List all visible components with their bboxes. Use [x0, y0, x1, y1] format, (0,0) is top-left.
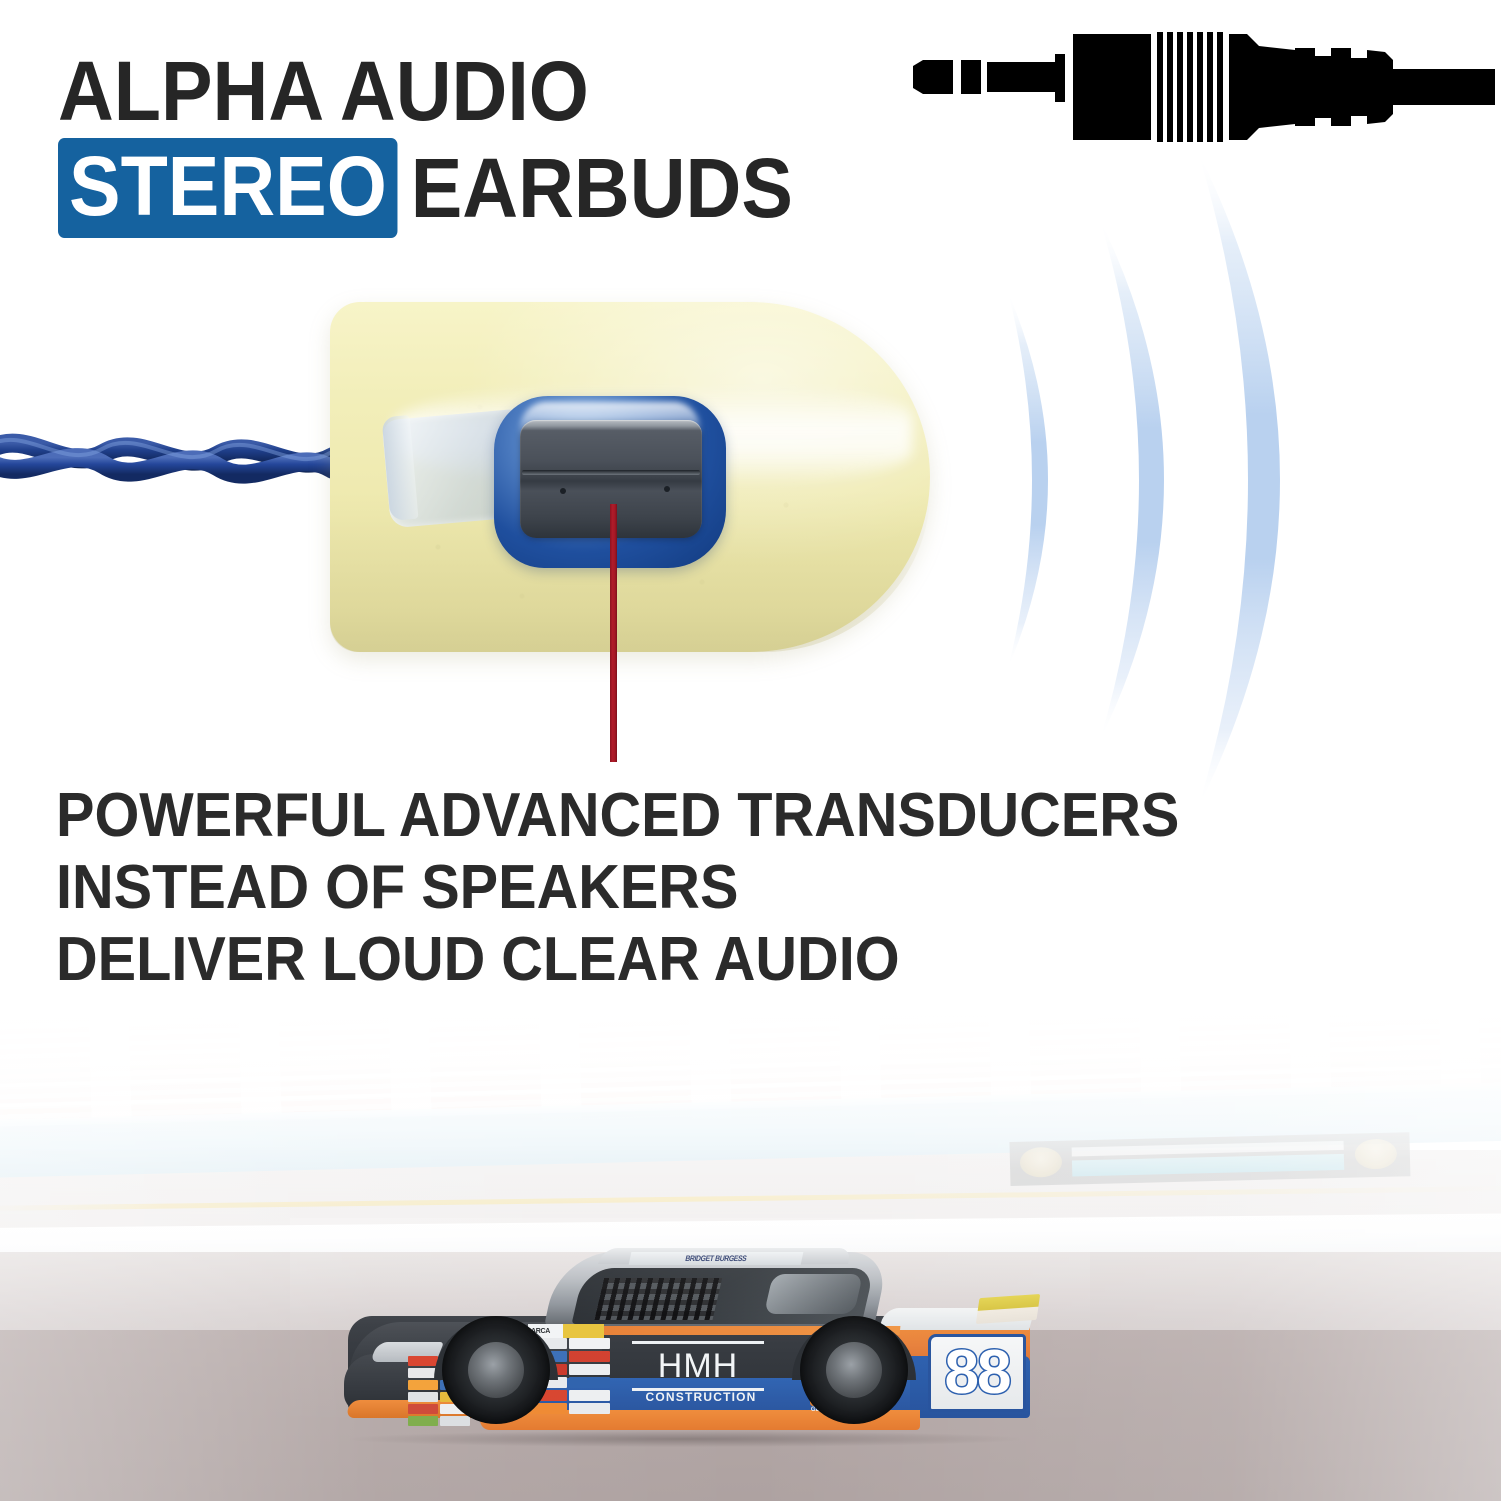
car-window [572, 1268, 875, 1324]
transducer-port [664, 486, 670, 492]
sound-wave-arc-small [1008, 292, 1048, 668]
sponsor-hmh-logo: HMH [620, 1338, 776, 1394]
transducer-seam [522, 470, 700, 475]
transducer-port [560, 488, 566, 494]
feature-line-2: INSTEAD OF SPEAKERS [56, 852, 1172, 924]
car-spoiler [976, 1294, 1040, 1324]
car-number: 88 [928, 1332, 1026, 1412]
wheel-front [442, 1316, 550, 1424]
audio-jack-icon [895, 12, 1495, 142]
headline-block: ALPHA AUDIO STEREO EARBUDS [58, 52, 958, 238]
feature-line-3: DELIVER LOUD CLEAR AUDIO [56, 924, 1172, 996]
headline-line-1: ALPHA AUDIO [58, 52, 886, 132]
race-car: BRIDGET BURGESS ARCA HMH [330, 1238, 1040, 1443]
window-glare [764, 1274, 863, 1314]
feature-line-1: POWERFUL ADVANCED TRANSDUCERS [56, 780, 1172, 852]
hmh-text: HMH [658, 1349, 738, 1383]
earbuds-word: EARBUDS [411, 146, 793, 230]
driver-name-banner: BRIDGET BURGESS [629, 1252, 804, 1265]
sound-wave-arc-large [1198, 152, 1280, 808]
car-shadow [350, 1431, 1020, 1447]
sign-text-row [1072, 1154, 1344, 1177]
stereo-badge: STEREO [58, 138, 398, 238]
sound-wave-group [960, 120, 1501, 840]
headline-line-2: STEREO EARBUDS [58, 138, 886, 238]
window-safety-net [594, 1278, 722, 1320]
sound-wave-arc-medium [1100, 220, 1164, 740]
sponsor-logo-icon [1355, 1139, 1398, 1170]
product-infographic: BRIDGET BURGESS ARCA HMH [0, 0, 1501, 1501]
wheel-rear [800, 1316, 908, 1424]
feature-text-block: POWERFUL ADVANCED TRANSDUCERS INSTEAD OF… [56, 780, 1256, 996]
driver-name-text: BRIDGET BURGESS [685, 1254, 748, 1263]
hmh-subtitle: CONSTRUCTION [626, 1390, 776, 1404]
hmh-rule-top [632, 1341, 764, 1344]
earbud-product-photo [0, 290, 940, 690]
sponsor-logo-icon [1020, 1147, 1063, 1178]
callout-pointer-line [610, 504, 617, 762]
